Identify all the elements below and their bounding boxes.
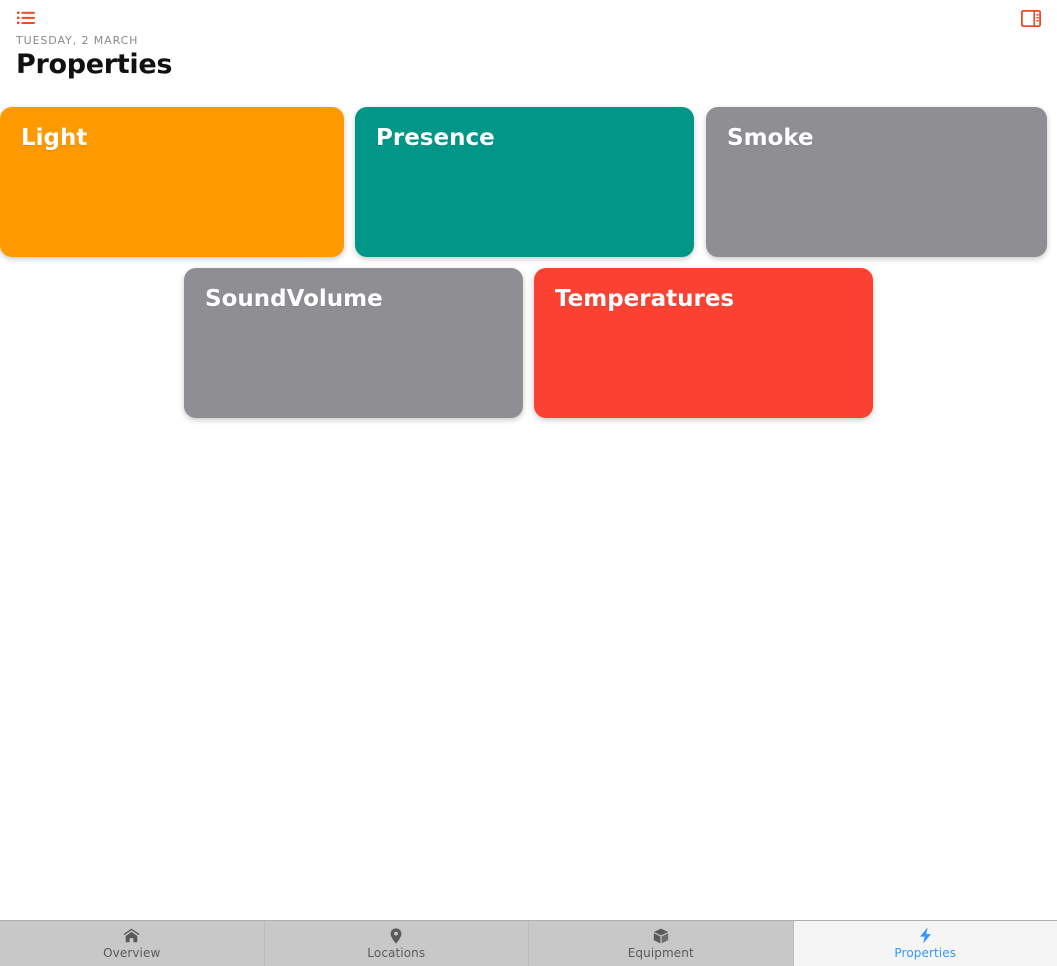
property-card-label: Temperatures — [555, 285, 734, 313]
lightning-icon — [919, 927, 932, 944]
nav-tab-locations[interactable]: Locations — [265, 921, 530, 966]
nav-tab-overview[interactable]: Overview — [0, 921, 265, 966]
properties-grid: Light Presence Smoke SoundVolume Tempera… — [0, 107, 1057, 418]
nav-tab-properties[interactable]: Properties — [794, 921, 1057, 966]
map-pin-icon — [390, 927, 402, 944]
property-card-label: Smoke — [727, 124, 814, 152]
sidebar-toggle-button[interactable] — [1019, 7, 1043, 29]
properties-row-2: SoundVolume Temperatures — [0, 268, 1057, 418]
property-card-label: SoundVolume — [205, 285, 383, 313]
nav-tab-equipment[interactable]: Equipment — [529, 921, 794, 966]
property-card-smoke[interactable]: Smoke — [706, 107, 1047, 257]
property-card-label: Presence — [376, 124, 495, 152]
menu-button[interactable] — [14, 7, 38, 29]
bottom-navigation: Overview Locations Equipment — [0, 920, 1057, 966]
nav-tab-label: Overview — [103, 946, 160, 960]
app-root: TUESDAY, 2 MARCH Properties Light Presen… — [0, 0, 1057, 966]
nav-tab-label: Locations — [367, 946, 425, 960]
page-title: Properties — [16, 49, 172, 81]
nav-tab-label: Properties — [894, 946, 956, 960]
property-card-presence[interactable]: Presence — [355, 107, 694, 257]
properties-row-1: Light Presence Smoke — [0, 107, 1057, 257]
property-card-label: Light — [21, 124, 87, 152]
property-card-light[interactable]: Light — [0, 107, 344, 257]
box-icon — [653, 927, 669, 944]
list-icon — [17, 11, 35, 25]
page-header: TUESDAY, 2 MARCH Properties — [16, 34, 172, 81]
nav-tab-label: Equipment — [628, 946, 694, 960]
top-bar — [0, 0, 1057, 36]
current-date: TUESDAY, 2 MARCH — [16, 34, 172, 48]
property-card-soundvolume[interactable]: SoundVolume — [184, 268, 523, 418]
home-icon — [123, 927, 140, 944]
sidebar-toggle-icon — [1021, 10, 1041, 27]
property-card-temperatures[interactable]: Temperatures — [534, 268, 873, 418]
